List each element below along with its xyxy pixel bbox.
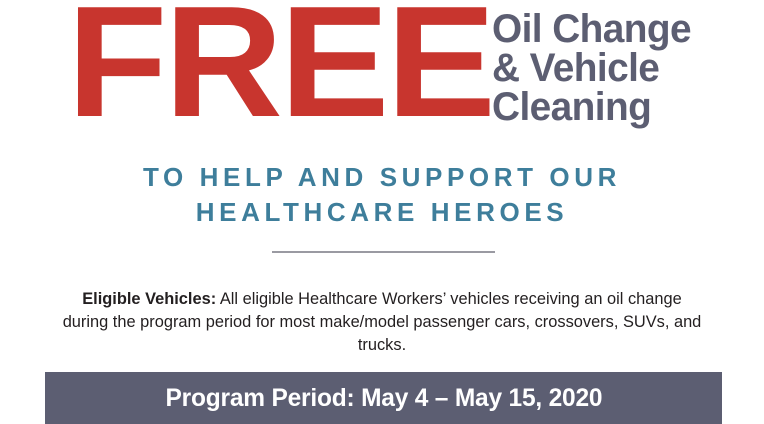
headline-detail-stack: Oil Change & Vehicle Cleaning xyxy=(492,10,697,128)
promotional-flyer: FREE Oil Change & Vehicle Cleaning TO HE… xyxy=(0,0,764,419)
headline-free-word: FREE xyxy=(67,0,493,135)
headline-detail-line-2: & Vehicle xyxy=(492,49,691,88)
headline-detail-line-1: Oil Change xyxy=(492,10,691,49)
eligibility-paragraph: Eligible Vehicles: All eligible Healthca… xyxy=(62,288,702,356)
subtitle-line-2: HEALTHCARE HEROES xyxy=(0,195,764,230)
section-divider xyxy=(272,251,495,253)
program-period-text: Program Period: May 4 – May 15, 2020 xyxy=(165,384,602,413)
eligibility-label: Eligible Vehicles: xyxy=(82,290,216,308)
subtitle-line-1: TO HELP AND SUPPORT OUR xyxy=(0,160,764,195)
headline-block: FREE Oil Change & Vehicle Cleaning xyxy=(0,0,764,152)
subtitle: TO HELP AND SUPPORT OUR HEALTHCARE HEROE… xyxy=(0,160,764,229)
program-period-banner: Program Period: May 4 – May 15, 2020 xyxy=(45,372,722,424)
headline-detail-line-3: Cleaning xyxy=(492,88,691,127)
